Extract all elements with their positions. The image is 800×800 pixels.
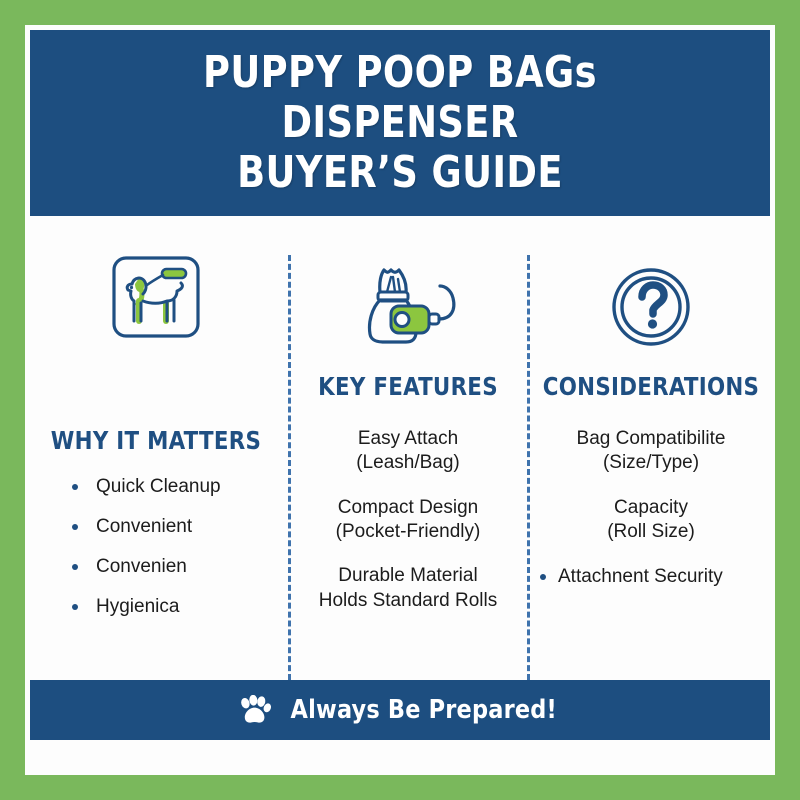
feature-line: (Pocket-Friendly)	[292, 520, 524, 544]
consideration-line: Capacity	[532, 496, 770, 520]
feature-line: Compact Design	[292, 496, 524, 520]
column-heading: WHY IT MATTERS	[36, 426, 275, 455]
feature-group: Easy Attach (Leash/Bag)	[292, 427, 524, 476]
column-why-it-matters: WHY IT MATTERS Quick Cleanup Convenient …	[30, 216, 282, 637]
column-heading: CONSIDERATIONS	[538, 372, 764, 401]
column-key-features: KEY FEATURES Easy Attach (Leash/Bag) Com…	[292, 216, 524, 613]
dog-on-leash-icon	[30, 216, 282, 340]
column-considerations: CONSIDERATIONS Bag Compatibilite (Size/T…	[532, 216, 770, 589]
list-item: Quick Cleanup	[72, 477, 282, 496]
footer-tagline: Always Be Prepared!	[291, 695, 557, 725]
column-divider-2	[527, 255, 530, 680]
feature-line: Easy Attach	[292, 427, 524, 451]
infographic-poster: PUPPY POOP BAGs DISPENSER BUYER’S GUIDE	[0, 0, 800, 800]
consideration-bullet: Attachnent Security	[532, 566, 770, 589]
list-item: Convenient	[72, 517, 282, 536]
feature-group: Compact Design (Pocket-Friendly)	[292, 496, 524, 545]
feature-group: Durable Material Holds Standard Rolls	[292, 564, 524, 613]
list-item: Convenien	[72, 557, 282, 576]
question-mark-circle-icon	[532, 216, 770, 348]
paw-print-icon	[237, 695, 271, 725]
column-divider-1	[288, 255, 291, 680]
consideration-line: (Size/Type)	[532, 451, 770, 475]
columns-section: WHY IT MATTERS Quick Cleanup Convenient …	[30, 216, 770, 705]
why-it-matters-list: Quick Cleanup Convenient Convenien Hygie…	[30, 477, 282, 616]
footer-banner: Always Be Prepared!	[30, 680, 770, 740]
header-banner: PUPPY POOP BAGs DISPENSER BUYER’S GUIDE	[30, 30, 770, 216]
title-line-1: PUPPY POOP BAGs DISPENSER	[203, 47, 597, 148]
consideration-line: (Roll Size)	[532, 520, 770, 544]
page-title: PUPPY POOP BAGs DISPENSER BUYER’S GUIDE	[56, 48, 744, 197]
list-item: Hygienica	[72, 597, 282, 616]
title-line-2: BUYER’S GUIDE	[80, 148, 720, 198]
feature-line: Holds Standard Rolls	[292, 589, 524, 613]
consideration-group: Capacity (Roll Size)	[532, 496, 770, 545]
consideration-line: Bag Compatibilite	[532, 427, 770, 451]
poster-card: PUPPY POOP BAGs DISPENSER BUYER’S GUIDE	[25, 25, 775, 775]
feature-line: Durable Material	[292, 564, 524, 588]
poop-bag-dispenser-icon	[292, 216, 524, 348]
column-heading: KEY FEATURES	[298, 372, 518, 401]
feature-line: (Leash/Bag)	[292, 451, 524, 475]
consideration-group: Bag Compatibilite (Size/Type)	[532, 427, 770, 476]
